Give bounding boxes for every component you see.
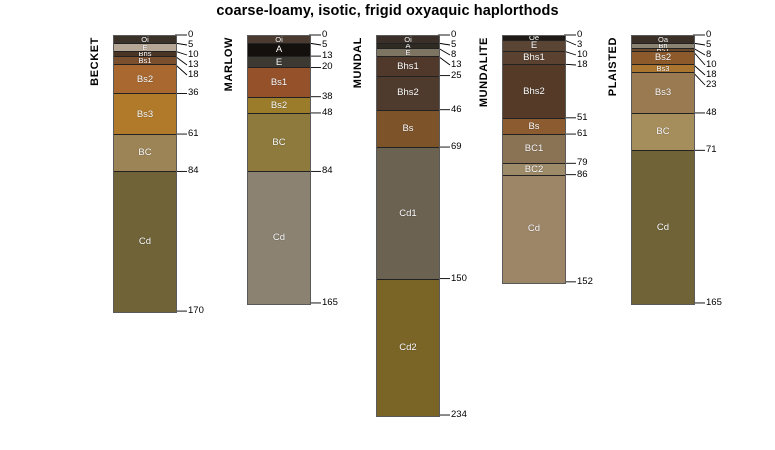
depth-tick-label: 13 bbox=[322, 51, 333, 61]
depth-tick-label: 13 bbox=[451, 60, 462, 70]
soil-horizon: Oi bbox=[377, 36, 439, 44]
depth-tick-label: 48 bbox=[706, 108, 717, 118]
soil-horizon: Cd1 bbox=[377, 148, 439, 280]
horizon-label: Cd bbox=[657, 223, 669, 233]
profile-name-label: MUNDALITE bbox=[478, 37, 490, 107]
soil-horizon: Cd bbox=[248, 172, 310, 304]
soil-horizon: Oi bbox=[114, 36, 176, 44]
soil-horizon: Cd bbox=[632, 151, 694, 304]
horizon-label: Cd1 bbox=[399, 209, 416, 219]
profile-name-label: MUNDAL bbox=[352, 37, 364, 88]
profile-column: OaBhBs1Bs2Bs3Bs3BCCd bbox=[631, 35, 695, 305]
horizon-label: Cd2 bbox=[399, 343, 416, 353]
horizon-label: E bbox=[405, 49, 410, 56]
soil-horizon: A bbox=[248, 44, 310, 57]
depth-tick-label: 61 bbox=[188, 129, 199, 139]
depth-tick-label: 38 bbox=[322, 92, 333, 102]
horizon-label: Bs3 bbox=[655, 88, 671, 98]
horizon-label: BC2 bbox=[525, 165, 543, 175]
profile-column: OeEBhs1Bhs2BsBC1BC2Cd bbox=[502, 35, 566, 284]
horizon-label: Bs2 bbox=[271, 101, 287, 111]
horizon-label: E bbox=[531, 41, 537, 51]
horizon-label: Bhs1 bbox=[523, 53, 545, 63]
depth-tick-label: 18 bbox=[577, 60, 588, 70]
depth-tick-label: 48 bbox=[322, 108, 333, 118]
soil-horizon: Bs2 bbox=[114, 65, 176, 94]
horizon-label: Cd bbox=[273, 233, 285, 243]
depth-tick-label: 79 bbox=[577, 158, 588, 168]
horizon-label: BC bbox=[272, 138, 285, 148]
horizon-label: Bhs1 bbox=[397, 62, 419, 72]
profile-column: OiAEBhs1Bhs2BsCd1Cd2 bbox=[376, 35, 440, 417]
soil-horizon: BC2 bbox=[503, 164, 565, 175]
horizon-label: Oi bbox=[275, 36, 283, 43]
depth-tick-label: 84 bbox=[322, 166, 333, 176]
soil-horizon: Bs3 bbox=[632, 65, 694, 73]
horizon-label: Bhs2 bbox=[397, 88, 419, 98]
profile-column: OiEBhsBs1Bs2Bs3BCCd bbox=[113, 35, 177, 313]
depth-tick-label: 234 bbox=[451, 410, 467, 420]
horizon-label: A bbox=[276, 45, 282, 55]
soil-horizon: Cd bbox=[114, 172, 176, 312]
depth-tick-label: 25 bbox=[451, 71, 462, 81]
soil-horizon: Bs1 bbox=[248, 68, 310, 97]
profile-name-label: BECKET bbox=[89, 37, 101, 86]
horizon-label: Cd bbox=[139, 237, 151, 247]
soil-horizon: Bs2 bbox=[632, 52, 694, 65]
profile-column: OiAEBs1Bs2BCCd bbox=[247, 35, 311, 305]
horizon-label: BC bbox=[138, 148, 151, 158]
soil-horizon: Oa bbox=[632, 36, 694, 44]
horizon-label: Bs bbox=[528, 122, 539, 132]
horizon-label: BC1 bbox=[525, 144, 543, 154]
profile-name-label: MARLOW bbox=[223, 37, 235, 91]
depth-tick-label: 61 bbox=[577, 129, 588, 139]
depth-tick-label: 165 bbox=[322, 298, 338, 308]
horizon-label: Bs3 bbox=[657, 65, 670, 72]
horizon-label: Bs1 bbox=[271, 78, 287, 88]
soil-horizon: BC1 bbox=[503, 135, 565, 164]
depth-tick-label: 36 bbox=[188, 88, 199, 98]
soil-horizon: E bbox=[248, 57, 310, 68]
depth-tick-label: 71 bbox=[706, 145, 717, 155]
depth-tick-label: 51 bbox=[577, 113, 588, 123]
depth-tick-label: 5 bbox=[322, 40, 327, 50]
horizon-label: E bbox=[276, 58, 282, 68]
soil-horizon: Bhs1 bbox=[377, 57, 439, 76]
depth-tick-label: 18 bbox=[188, 70, 199, 80]
soil-horizon: E bbox=[377, 49, 439, 57]
soil-horizon: Bs bbox=[503, 119, 565, 135]
horizon-label: Oi bbox=[404, 36, 412, 43]
depth-tick-label: 20 bbox=[322, 62, 333, 72]
profile-name-label: PLAISTED bbox=[607, 37, 619, 96]
depth-tick-label: 152 bbox=[577, 277, 593, 287]
soil-horizon: Bhs2 bbox=[503, 65, 565, 119]
depth-tick-label: 46 bbox=[451, 105, 462, 115]
horizon-label: E bbox=[142, 44, 147, 51]
chart-title: coarse-loamy, isotic, frigid oxyaquic ha… bbox=[0, 3, 775, 19]
soil-horizon: BC bbox=[248, 114, 310, 172]
horizon-label: Bhs2 bbox=[523, 87, 545, 97]
horizon-label: Oa bbox=[658, 36, 668, 43]
depth-tick-label: 165 bbox=[706, 298, 722, 308]
soil-horizon: Bs1 bbox=[114, 57, 176, 65]
soil-horizon: Bhs2 bbox=[377, 77, 439, 111]
horizon-label: Bs bbox=[402, 124, 413, 134]
depth-tick-label: 150 bbox=[451, 274, 467, 284]
depth-tick-label: 170 bbox=[188, 306, 204, 316]
soil-horizon: Bs3 bbox=[632, 73, 694, 114]
horizon-label: Bs2 bbox=[137, 75, 153, 85]
soil-horizon: E bbox=[503, 41, 565, 52]
soil-horizon: E bbox=[114, 44, 176, 52]
horizon-label: Bs1 bbox=[139, 57, 152, 64]
soil-horizon: Bs bbox=[377, 111, 439, 148]
depth-tick-label: 69 bbox=[451, 142, 462, 152]
soil-horizon: BC bbox=[114, 135, 176, 172]
soil-horizon: BC bbox=[632, 114, 694, 151]
horizon-label: Bs2 bbox=[655, 53, 671, 63]
horizon-label: Bs3 bbox=[137, 110, 153, 120]
horizon-label: Oi bbox=[141, 36, 149, 43]
depth-tick-label: 84 bbox=[188, 166, 199, 176]
depth-tick-label: 23 bbox=[706, 80, 717, 90]
soil-horizon: Cd bbox=[503, 176, 565, 283]
soil-horizon: Oi bbox=[248, 36, 310, 44]
depth-tick-label: 86 bbox=[577, 170, 588, 180]
soil-horizon: Bs3 bbox=[114, 94, 176, 135]
horizon-label: Cd bbox=[528, 224, 540, 234]
soil-horizon: Bs2 bbox=[248, 98, 310, 114]
soil-horizon: Bhs1 bbox=[503, 52, 565, 65]
horizon-label: BC bbox=[656, 127, 669, 137]
soil-horizon: Cd2 bbox=[377, 280, 439, 416]
